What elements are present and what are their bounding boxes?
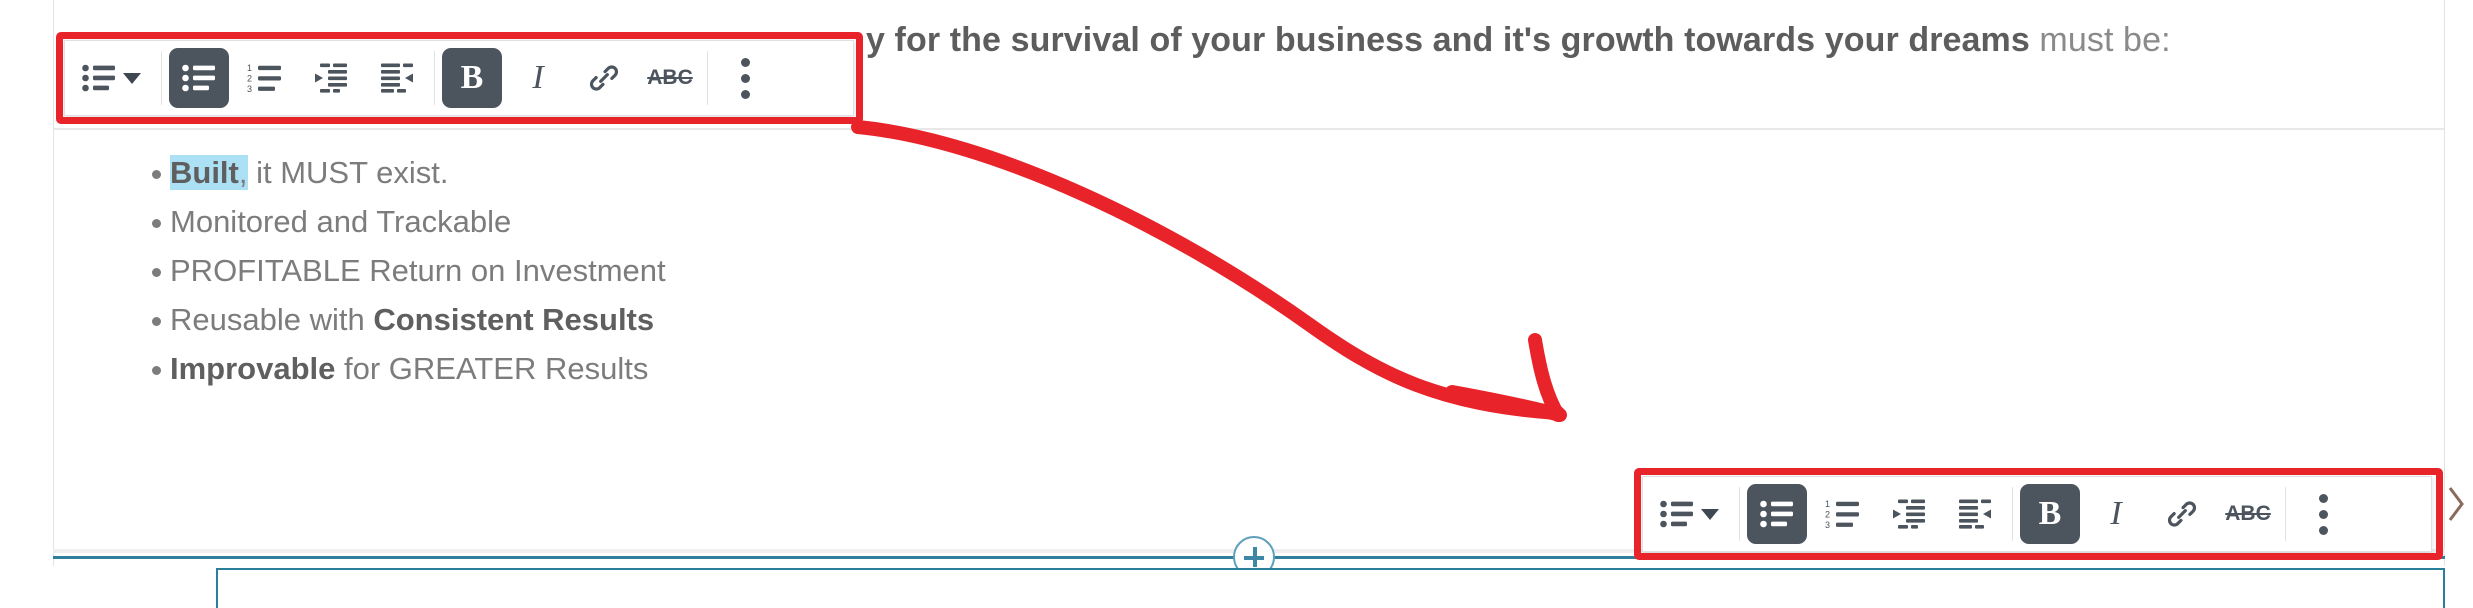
list-item-text: PROFITABLE Return on Investment (170, 253, 666, 288)
svg-text:1: 1 (1825, 500, 1830, 509)
toolbar-group-lists: 1 2 3 (1744, 477, 2008, 551)
italic-icon: I (2110, 497, 2121, 531)
bold-icon: B (461, 61, 484, 95)
link-icon (2166, 498, 2198, 530)
outdent-icon (1892, 499, 1926, 529)
list-item-selected-comma: , (239, 155, 248, 190)
list-item[interactable]: PROFITABLE Return on Investment (130, 246, 666, 295)
chevron-down-icon (1701, 509, 1719, 520)
strikethrough-icon: ABC (2225, 502, 2271, 526)
link-icon (588, 62, 620, 94)
toolbar-divider (434, 51, 435, 106)
bullet-list-icon (182, 64, 216, 92)
indent-button[interactable] (1945, 484, 2005, 544)
toolbar-divider (1739, 487, 1740, 542)
indent-icon (380, 63, 414, 93)
bold-button[interactable]: B (2020, 484, 2080, 544)
next-block-outline[interactable] (216, 568, 2445, 608)
strikethrough-button[interactable]: ABC (640, 48, 700, 108)
bullet-list-style-dropdown[interactable] (1646, 484, 1732, 544)
toolbar-divider (2012, 487, 2013, 542)
numbered-list-icon: 1 2 3 (1825, 500, 1861, 528)
outdent-icon (314, 63, 348, 93)
list-item-text: Reusable with (170, 302, 373, 337)
headline-bold-text: y for the survival of your business and … (866, 21, 2030, 59)
outdent-button[interactable] (301, 48, 361, 108)
list-item-bold-lead: Built (170, 155, 239, 190)
list-item-text: Monitored and Trackable (170, 204, 511, 239)
formatting-toolbar-bottom[interactable]: 1 2 3 (1642, 476, 2432, 552)
list-item[interactable]: Reusable with Consistent Results (130, 295, 666, 344)
indent-button[interactable] (367, 48, 427, 108)
list-item-bold-lead: Improvable (170, 351, 335, 386)
toolbar-group-inline-format: B I ABC (439, 41, 703, 115)
kebab-menu-icon (2319, 494, 2328, 535)
headline-tail-text: must be: (2030, 21, 2171, 59)
numbered-list-icon: 1 2 3 (247, 64, 283, 92)
svg-text:3: 3 (1825, 520, 1830, 528)
toolbar-group-overflow (2290, 477, 2356, 551)
numbered-list-button[interactable]: 1 2 3 (1813, 484, 1873, 544)
svg-text:2: 2 (1825, 510, 1830, 520)
indent-icon (1958, 499, 1992, 529)
svg-text:3: 3 (247, 84, 252, 92)
svg-text:2: 2 (247, 74, 252, 84)
toolbar-group-lists: 1 2 3 (166, 41, 430, 115)
toolbar-divider (707, 51, 708, 106)
link-button[interactable] (2152, 484, 2212, 544)
bold-icon: B (2039, 497, 2062, 531)
list-item[interactable]: Improvable for GREATER Results (130, 344, 666, 393)
list-item[interactable]: Built, it MUST exist. (130, 148, 666, 197)
toolbar-group-overflow (712, 41, 778, 115)
toolbar-group-list-style (65, 41, 157, 115)
bullet-list-style-dropdown[interactable] (68, 48, 154, 108)
bullet-list-icon (1760, 500, 1794, 528)
toolbar-group-list-style (1643, 477, 1735, 551)
bullet-list[interactable]: Built, it MUST exist. Monitored and Trac… (130, 148, 666, 393)
outdent-button[interactable] (1879, 484, 1939, 544)
italic-icon: I (532, 61, 543, 95)
more-options-button[interactable] (2293, 484, 2353, 544)
paragraph-divider (53, 128, 2445, 130)
chevron-right-partial-icon (2448, 484, 2470, 524)
list-item-text: for GREATER Results (335, 351, 648, 386)
strikethrough-icon: ABC (647, 66, 693, 90)
toolbar-group-inline-format: B I ABC (2017, 477, 2281, 551)
bullet-list-icon (82, 64, 116, 92)
toolbar-divider (161, 51, 162, 106)
numbered-list-button[interactable]: 1 2 3 (235, 48, 295, 108)
list-item[interactable]: Monitored and Trackable (130, 197, 666, 246)
link-button[interactable] (574, 48, 634, 108)
bold-button[interactable]: B (442, 48, 502, 108)
svg-text:1: 1 (247, 64, 252, 73)
italic-button[interactable]: I (508, 48, 568, 108)
toolbar-divider (2285, 487, 2286, 542)
strikethrough-button[interactable]: ABC (2218, 484, 2278, 544)
chevron-down-icon (123, 73, 141, 84)
formatting-toolbar-top[interactable]: 1 2 3 (64, 40, 854, 116)
bullet-list-button[interactable] (1747, 484, 1807, 544)
kebab-menu-icon (741, 58, 750, 99)
bullet-list-button[interactable] (169, 48, 229, 108)
list-item-text: it MUST exist. (248, 155, 449, 190)
bullet-list-icon (1660, 500, 1694, 528)
italic-button[interactable]: I (2086, 484, 2146, 544)
list-item-bold-trail: Consistent Results (373, 302, 654, 337)
more-options-button[interactable] (715, 48, 775, 108)
